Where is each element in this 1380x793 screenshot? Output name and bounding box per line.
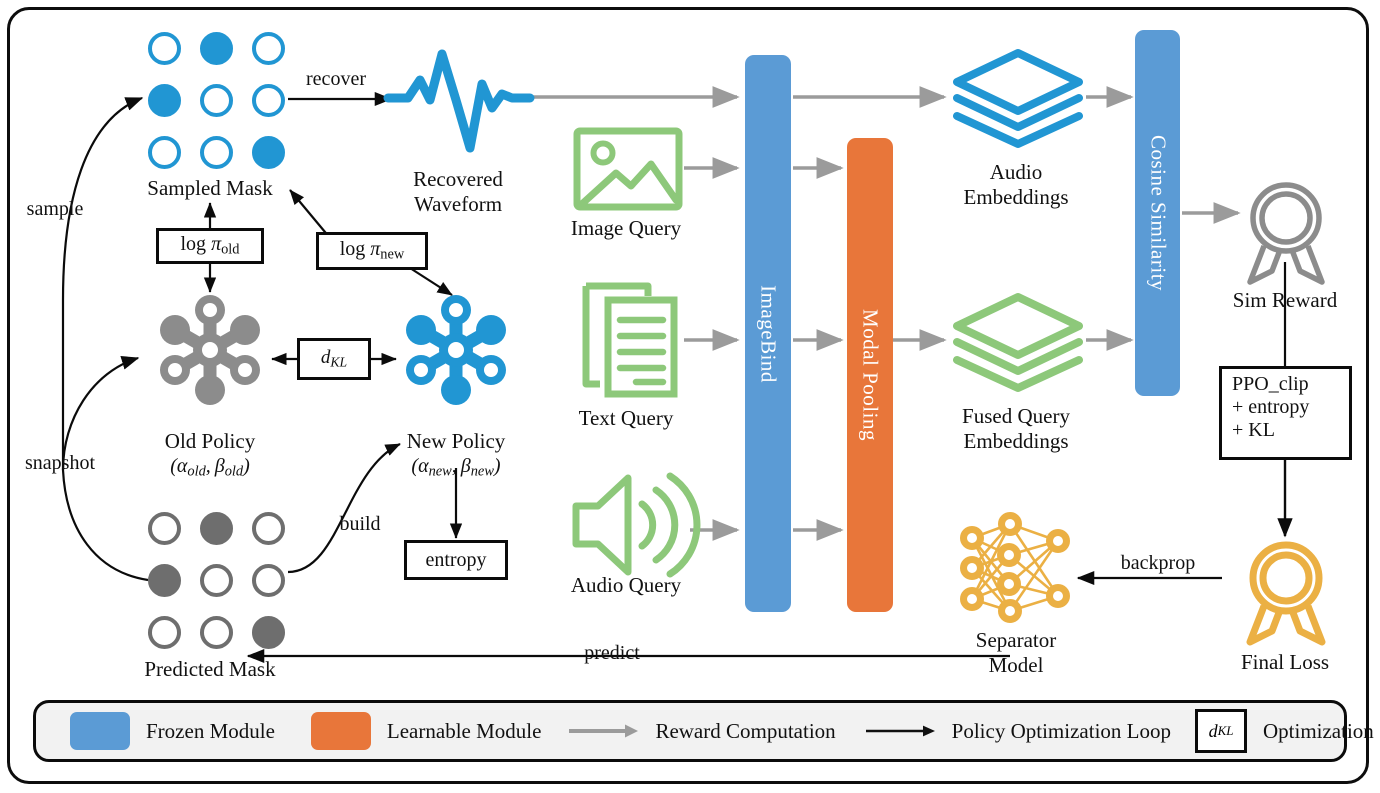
sim-reward-label: Sim Reward bbox=[1233, 288, 1337, 313]
mask-dot-empty bbox=[200, 84, 233, 117]
mask-dot-empty bbox=[148, 136, 181, 169]
audio-embeddings-label: AudioEmbeddings bbox=[964, 160, 1069, 210]
audio-query-label: Audio Query bbox=[571, 573, 681, 598]
legend-label-learnable: Learnable Module bbox=[387, 719, 542, 744]
legend: Frozen Module Learnable Module Reward Co… bbox=[33, 700, 1347, 762]
d-kl-box: dKL bbox=[297, 338, 371, 380]
image-icon bbox=[572, 126, 684, 212]
layers-icon-fused bbox=[952, 292, 1084, 392]
mask-dot-empty bbox=[252, 512, 285, 545]
arrow-label-backprop: backprop bbox=[1121, 552, 1195, 576]
separator-model-label: SeparatorModel bbox=[976, 628, 1056, 678]
legend-item-learnable-module: Learnable Module bbox=[311, 712, 542, 750]
final-loss-icon bbox=[1238, 538, 1334, 648]
legend-label-optimization-signals: Optimization Signals bbox=[1263, 719, 1380, 744]
predicted-mask bbox=[148, 512, 290, 654]
mask-dot-empty bbox=[200, 616, 233, 649]
legend-item-frozen-module: Frozen Module bbox=[70, 712, 275, 750]
old-policy-icon bbox=[148, 288, 272, 412]
arrow-label-snapshot: snapshot bbox=[25, 452, 95, 476]
arrow-label-sample: sample bbox=[27, 198, 84, 222]
final-loss-label: Final Loss bbox=[1241, 650, 1329, 675]
separator-model-icon bbox=[955, 512, 1077, 624]
new-policy-icon bbox=[394, 288, 518, 412]
speaker-icon bbox=[566, 470, 694, 580]
mask-dot-filled bbox=[148, 564, 181, 597]
cosine-similarity-module[interactable]: Cosine Similarity bbox=[1135, 30, 1180, 396]
log-pi-old-box: log πold bbox=[156, 228, 264, 264]
mask-dot-filled bbox=[200, 32, 233, 65]
imagebind-label: ImageBind bbox=[756, 285, 781, 383]
entropy-box: entropy bbox=[404, 540, 508, 580]
mask-dot-empty bbox=[148, 512, 181, 545]
modal-pooling-module[interactable]: Modal Pooling bbox=[847, 138, 893, 612]
mask-dot-filled bbox=[148, 84, 181, 117]
loss-term-2: + entropy bbox=[1232, 396, 1309, 419]
legend-dkl-box: dKL bbox=[1195, 709, 1247, 753]
mask-dot-filled bbox=[200, 512, 233, 545]
modal-pooling-label: Modal Pooling bbox=[858, 309, 883, 441]
mask-dot-empty bbox=[200, 564, 233, 597]
arrow-label-predict: predict bbox=[584, 642, 640, 666]
legend-swatch-learnable bbox=[311, 712, 371, 750]
mask-dot-filled bbox=[252, 136, 285, 169]
sampled-mask bbox=[148, 32, 290, 174]
loss-term-3: + KL bbox=[1232, 419, 1275, 442]
recovered-waveform-icon bbox=[386, 38, 532, 166]
documents-icon bbox=[578, 278, 682, 400]
predicted-mask-label: Predicted Mask bbox=[144, 657, 275, 682]
mask-dot-empty bbox=[148, 616, 181, 649]
legend-arrow-black-icon bbox=[866, 724, 936, 738]
old-policy-params: (αold, βold) bbox=[170, 455, 250, 481]
diagram-canvas: Sampled Mask log πold log πnew Old Polic… bbox=[0, 0, 1380, 793]
legend-label-frozen: Frozen Module bbox=[146, 719, 275, 744]
log-pi-new-box: log πnew bbox=[316, 232, 428, 270]
imagebind-module[interactable]: ImageBind bbox=[745, 55, 791, 612]
image-query-label: Image Query bbox=[571, 216, 681, 241]
mask-dot-empty bbox=[200, 136, 233, 169]
mask-dot-filled bbox=[252, 616, 285, 649]
d-kl-label: dKL bbox=[321, 347, 347, 370]
loss-terms-box: PPO_clip + entropy + KL bbox=[1219, 366, 1352, 460]
legend-label-reward-computation: Reward Computation bbox=[655, 719, 835, 744]
layers-icon-audio bbox=[952, 48, 1084, 148]
sampled-mask-label: Sampled Mask bbox=[147, 176, 272, 201]
log-pi-new-label: log πnew bbox=[340, 238, 405, 264]
legend-item-optimization-signals: dKL Optimization Signals bbox=[1195, 709, 1380, 753]
legend-label-policy-optimization-loop: Policy Optimization Loop bbox=[952, 719, 1171, 744]
mask-dot-empty bbox=[148, 32, 181, 65]
mask-dot-empty bbox=[252, 564, 285, 597]
legend-arrow-gray-icon bbox=[569, 724, 639, 738]
legend-swatch-frozen bbox=[70, 712, 130, 750]
old-policy-label: Old Policy bbox=[165, 429, 255, 454]
arrow-label-build: build bbox=[339, 513, 380, 537]
mask-dot-empty bbox=[252, 84, 285, 117]
legend-item-policy-optimization-loop: Policy Optimization Loop bbox=[866, 719, 1171, 744]
legend-item-reward-computation: Reward Computation bbox=[569, 719, 835, 744]
recovered-waveform-label: RecoveredWaveform bbox=[413, 167, 503, 217]
cosine-similarity-label: Cosine Similarity bbox=[1145, 135, 1170, 291]
loss-term-1: PPO_clip bbox=[1232, 373, 1309, 396]
log-pi-old-label: log πold bbox=[181, 233, 240, 259]
entropy-label: entropy bbox=[425, 549, 486, 572]
arrow-label-recover: recover bbox=[306, 68, 366, 92]
text-query-label: Text Query bbox=[579, 406, 674, 431]
new-policy-params: (αnew, βnew) bbox=[411, 455, 500, 481]
new-policy-label: New Policy bbox=[407, 429, 506, 454]
fused-query-embeddings-label: Fused QueryEmbeddings bbox=[962, 404, 1070, 454]
sim-reward-icon bbox=[1238, 178, 1334, 288]
mask-dot-empty bbox=[252, 32, 285, 65]
